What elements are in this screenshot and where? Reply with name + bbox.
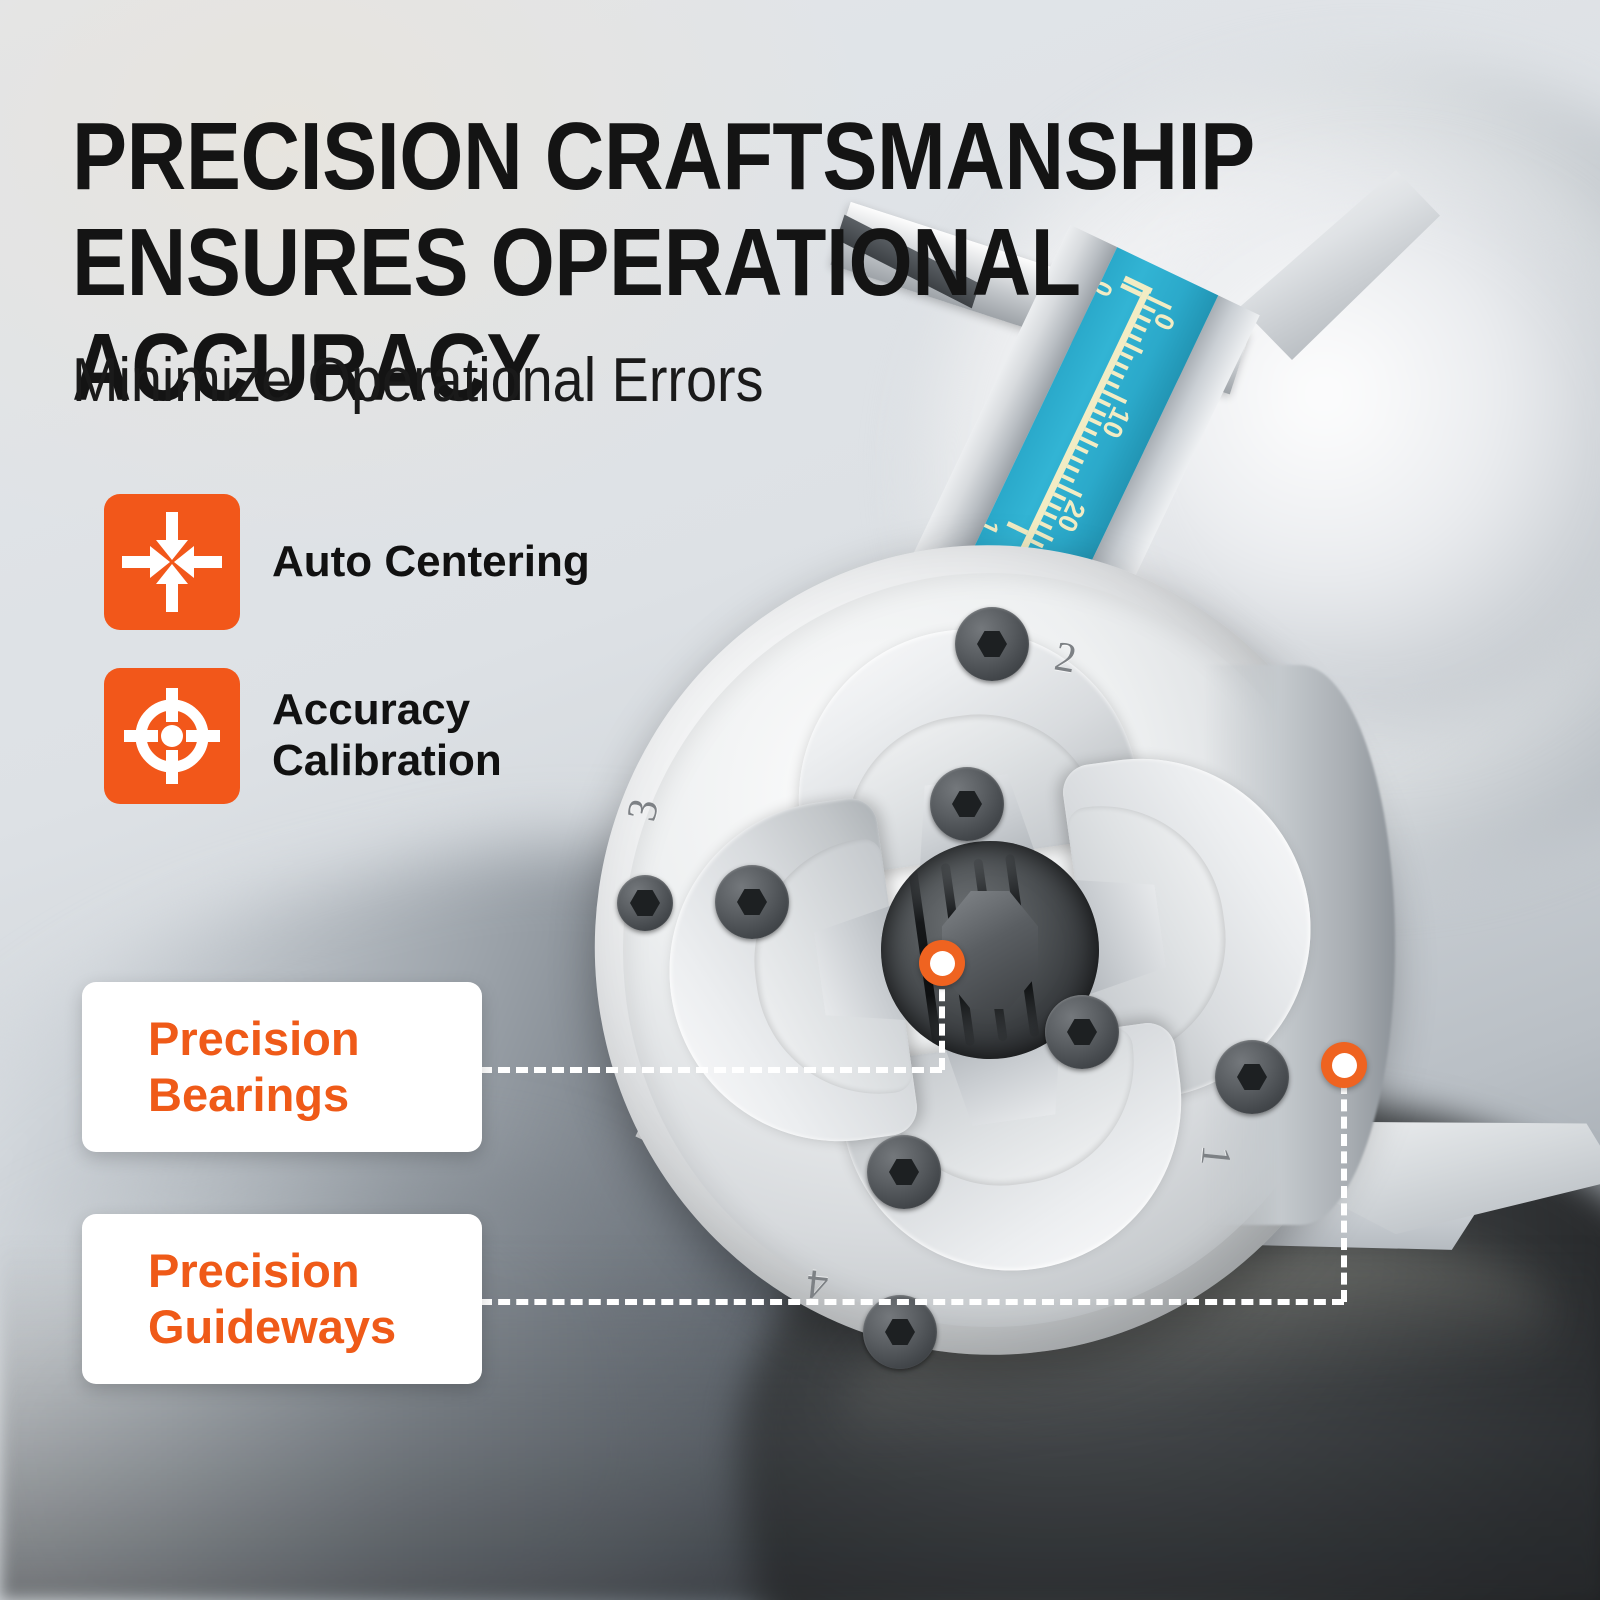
- feature-auto-centering: Auto Centering: [104, 494, 590, 630]
- guideway-marker: [1321, 1042, 1367, 1088]
- caliper-metric-tick-label: 20: [1052, 497, 1090, 537]
- caliper-tick: [1053, 492, 1066, 501]
- caliper-tick: [1035, 530, 1054, 542]
- callout-label: Precision Guideways: [148, 1243, 396, 1356]
- crosshair-target-icon: [104, 668, 240, 804]
- chuck-jaw-number: 1: [1194, 1143, 1238, 1168]
- caliper-imperial-tick: [1006, 521, 1028, 535]
- chuck-bolt: [867, 1135, 941, 1209]
- chuck-bolt: [617, 875, 673, 931]
- callout-label: Precision Bearings: [148, 1011, 360, 1124]
- chuck-bolt: [715, 865, 789, 939]
- callout-precision-bearings[interactable]: Precision Bearings: [82, 982, 482, 1152]
- caliper-tick: [1071, 455, 1084, 464]
- feature-label: Accuracy Calibration: [272, 685, 502, 786]
- chuck-bolt: [863, 1295, 937, 1369]
- caliper-tick: [1080, 436, 1099, 448]
- chuck-bolt: [930, 767, 1004, 841]
- chuck-bolt: [955, 607, 1029, 681]
- leader-dash-vertical: [939, 972, 945, 1070]
- page-subtitle: Minimize Operational Errors: [72, 350, 764, 412]
- caliper-tick: [1066, 464, 1079, 473]
- feature-accuracy-calibration: Accuracy Calibration: [104, 668, 502, 804]
- converge-arrows-icon: [104, 494, 240, 630]
- headline-line-1: PRECISION CRAFTSMANSHIP: [72, 104, 1276, 210]
- caliper-tick: [1075, 446, 1088, 455]
- chuck-bolt: [1045, 995, 1119, 1069]
- chuck-bolt: [1215, 1040, 1289, 1114]
- chuck-jaw: [647, 795, 920, 1163]
- lathe-chuck: 2 3 1 4: [595, 545, 1385, 1355]
- callout-precision-guideways[interactable]: Precision Guideways: [82, 1214, 482, 1384]
- feature-label: Auto Centering: [272, 537, 590, 588]
- bearing-marker: [919, 940, 965, 986]
- leader-dash-horizontal: [480, 1299, 1344, 1305]
- leader-dash-vertical: [1341, 1082, 1347, 1302]
- caliper-tick: [1062, 474, 1075, 483]
- leader-dash-horizontal: [480, 1067, 942, 1073]
